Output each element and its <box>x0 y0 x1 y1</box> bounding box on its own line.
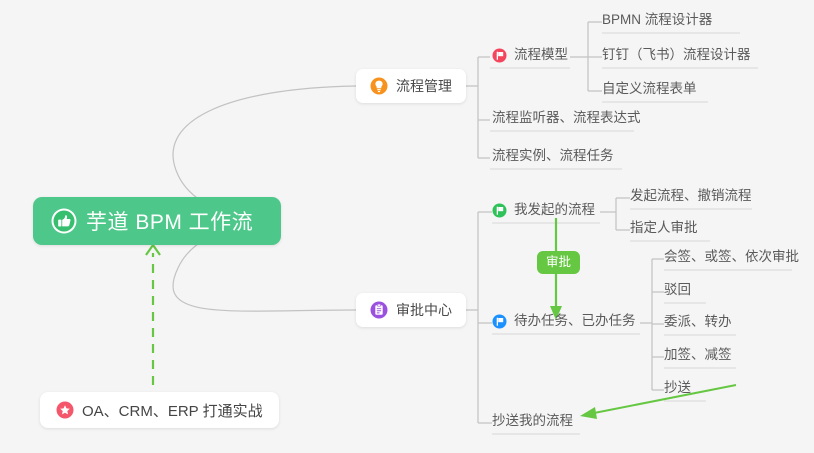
leaf-label: 发起流程、撤销流程 <box>630 187 752 205</box>
branch-node-process-management[interactable]: 流程管理 <box>356 69 466 103</box>
leaf-label: 委派、转办 <box>664 313 732 331</box>
flag-icon <box>492 203 507 218</box>
leaf-label: 会签、或签、依次审批 <box>664 248 799 266</box>
node-label-cc-to-me: 抄送我的流程 <box>492 412 573 430</box>
leaf-label: 指定人审批 <box>630 219 698 237</box>
node-process-instance[interactable]: 流程实例、流程任务 <box>492 147 614 168</box>
root-node[interactable]: 芋道 BPM 工作流 <box>33 197 281 245</box>
node-my-initiated[interactable]: 我发起的流程 <box>492 201 595 222</box>
annotation-badge-label: 审批 <box>546 255 571 269</box>
star-icon <box>56 401 74 419</box>
leaf-countersign[interactable]: 会签、或签、依次审批 <box>664 248 799 269</box>
integration-dashed-arrow <box>146 245 160 385</box>
node-label-todo-done-tasks: 待办任务、已办任务 <box>514 312 636 330</box>
leaf-reject[interactable]: 驳回 <box>664 281 691 302</box>
leaf-label: 自定义流程表单 <box>602 80 697 98</box>
node-process-listener[interactable]: 流程监听器、流程表达式 <box>492 109 641 130</box>
node-label-process-instance: 流程实例、流程任务 <box>492 147 614 165</box>
node-cc-to-me[interactable]: 抄送我的流程 <box>492 412 573 433</box>
leaf-assignee-approval[interactable]: 指定人审批 <box>630 219 698 240</box>
mindmap-canvas: 芋道 BPM 工作流 流程管理 流程模型 BPMN 流程设计器 钉钉（飞书）流程 <box>0 0 814 453</box>
leaf-add-remove-sign[interactable]: 加签、减签 <box>664 346 732 367</box>
leaf-cc[interactable]: 抄送 <box>664 379 691 400</box>
node-label-process-model: 流程模型 <box>514 46 568 64</box>
node-label-my-initiated: 我发起的流程 <box>514 201 595 219</box>
node-todo-done-tasks[interactable]: 待办任务、已办任务 <box>492 312 636 333</box>
leaf-start-cancel-process[interactable]: 发起流程、撤销流程 <box>630 187 752 208</box>
branch-label-approval-center: 审批中心 <box>396 300 452 320</box>
root-label: 芋道 BPM 工作流 <box>86 206 253 236</box>
node-process-model[interactable]: 流程模型 <box>492 46 568 67</box>
flag-icon <box>492 48 507 63</box>
clipboard-icon <box>370 301 388 319</box>
leaf-label: 钉钉（飞书）流程设计器 <box>602 46 751 64</box>
flag-icon <box>492 314 507 329</box>
thumbs-up-icon <box>51 208 77 234</box>
leaf-delegate-transfer[interactable]: 委派、转办 <box>664 313 732 334</box>
branch-label-process-management: 流程管理 <box>396 76 452 96</box>
annotation-badge-approval: 审批 <box>537 251 580 274</box>
lightbulb-icon <box>370 77 388 95</box>
leaf-label: BPMN 流程设计器 <box>602 11 712 29</box>
callout-node-integration-practice[interactable]: OA、CRM、ERP 打通实战 <box>40 392 279 428</box>
leaf-label: 驳回 <box>664 281 691 299</box>
callout-label: OA、CRM、ERP 打通实战 <box>82 400 263 421</box>
leaf-custom-form[interactable]: 自定义流程表单 <box>602 80 697 101</box>
leaf-dingtalk-designer[interactable]: 钉钉（飞书）流程设计器 <box>602 46 751 67</box>
cc-flow-arrow <box>580 385 736 419</box>
branch-node-approval-center[interactable]: 审批中心 <box>356 293 466 327</box>
leaf-label: 抄送 <box>664 379 691 397</box>
node-label-process-listener: 流程监听器、流程表达式 <box>492 109 641 127</box>
leaf-label: 加签、减签 <box>664 346 732 364</box>
leaf-bpmn-designer[interactable]: BPMN 流程设计器 <box>602 11 712 32</box>
